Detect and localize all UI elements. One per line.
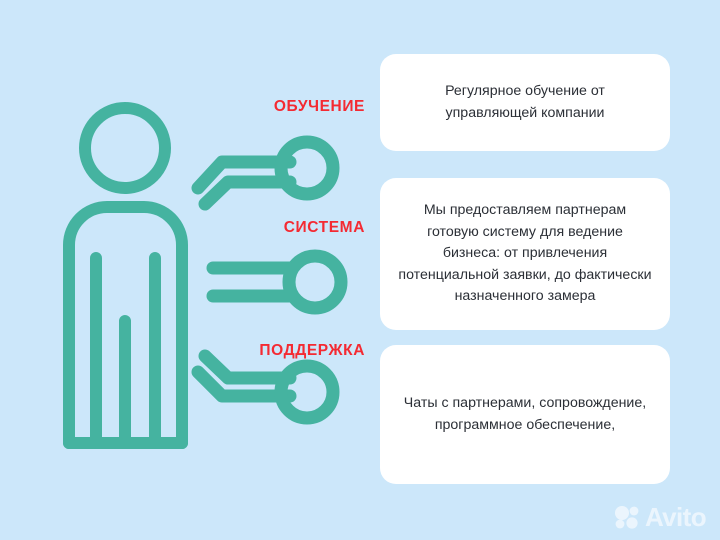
infographic-slide: ОБУЧЕНИЕ СИСТЕМА ПОДДЕРЖКА Регулярное об… <box>0 0 720 540</box>
info-card-system-text: Мы предоставляем партнерам готовую систе… <box>398 200 652 308</box>
person-with-three-arms-illustration <box>0 0 380 540</box>
section-label-training: ОБУЧЕНИЕ <box>274 99 365 115</box>
legs-icon <box>96 258 155 443</box>
avito-logo-icon <box>614 505 640 529</box>
info-card-system: Мы предоставляем партнерам готовую систе… <box>380 178 670 330</box>
arm-up-icon <box>198 142 333 204</box>
info-card-training: Регулярное обучение от управляющей компа… <box>380 54 670 151</box>
avito-watermark: Avito <box>614 504 706 530</box>
head-circle-icon <box>85 108 165 188</box>
arm-down-icon <box>198 356 333 418</box>
info-card-support-text: Чаты с партнерами, сопровождение, програ… <box>398 393 652 436</box>
avito-watermark-text: Avito <box>645 504 706 530</box>
info-card-training-text: Регулярное обучение от управляющей компа… <box>398 81 652 124</box>
arm-straight-icon <box>213 256 341 308</box>
section-label-support: ПОДДЕРЖКА <box>259 343 365 359</box>
info-card-support: Чаты с партнерами, сопровождение, програ… <box>380 345 670 484</box>
section-label-system: СИСТЕМА <box>284 220 365 236</box>
